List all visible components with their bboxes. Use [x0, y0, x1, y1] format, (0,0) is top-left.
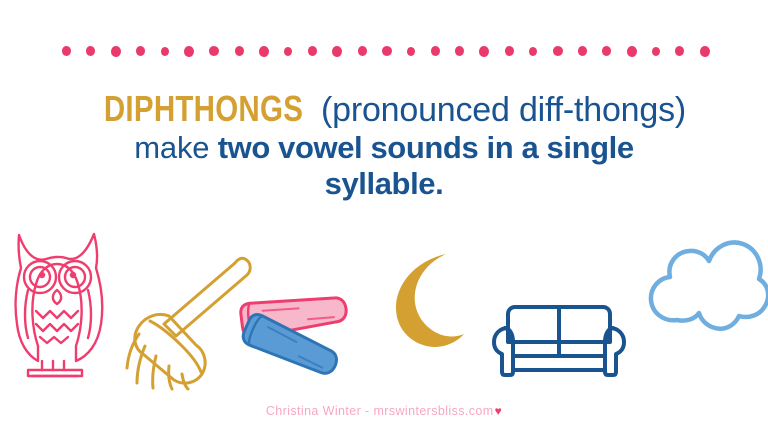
divider-dot: [479, 46, 489, 57]
headline-line-1: DIPHTHONGS(pronounced diff-thongs): [0, 88, 768, 130]
couch-icon: [486, 304, 632, 382]
divider-dot: [602, 46, 611, 56]
headline-line-2: make two vowel sounds in a single: [0, 130, 768, 166]
term-diphthongs: DIPHTHONGS: [104, 88, 303, 130]
divider-dot: [111, 46, 121, 57]
cloud-icon: [644, 232, 762, 338]
divider-dot: [86, 46, 95, 56]
headline-emphasis-2: syllable.: [325, 166, 444, 201]
divider-dot: [578, 46, 587, 56]
divider-dot: [136, 46, 145, 56]
divider-dot: [431, 46, 440, 56]
divider-dot: [382, 46, 392, 56]
heart-icon: ♥: [495, 404, 503, 418]
divider-dot: [700, 46, 710, 57]
headline-line-3: syllable.: [0, 166, 768, 202]
divider-dot: [529, 47, 537, 56]
divider-dot: [505, 46, 514, 56]
divider-dot: [627, 46, 637, 57]
headline-emphasis-1: two vowel sounds in a single: [218, 130, 634, 165]
divider-dot: [161, 47, 169, 56]
owl-icon: [6, 228, 112, 378]
divider-dot: [62, 46, 71, 56]
divider-dot: [332, 46, 342, 57]
headline-lead-word: make: [134, 130, 217, 165]
divider-dot: [259, 46, 269, 57]
divider-dot: [235, 46, 244, 56]
divider-dot: [284, 47, 292, 56]
divider-dot: [358, 46, 367, 56]
divider-dot: [652, 47, 660, 56]
credit-text: Christina Winter - mrswintersbliss.com: [266, 404, 494, 418]
crayons-icon: [234, 294, 362, 380]
credit-line: Christina Winter - mrswintersbliss.com♥: [0, 404, 768, 418]
divider-dot: [209, 46, 219, 56]
dotted-divider: [62, 44, 710, 58]
term-pronunciation: (pronounced diff-thongs): [321, 91, 686, 129]
divider-dot: [675, 46, 684, 56]
divider-dot: [407, 47, 415, 56]
divider-dot: [455, 46, 464, 56]
divider-dot: [184, 46, 194, 57]
divider-dot: [308, 46, 317, 56]
headline-block: DIPHTHONGS(pronounced diff-thongs) make …: [0, 88, 768, 202]
divider-dot: [553, 46, 563, 56]
crescent-moon-icon: [376, 252, 468, 352]
